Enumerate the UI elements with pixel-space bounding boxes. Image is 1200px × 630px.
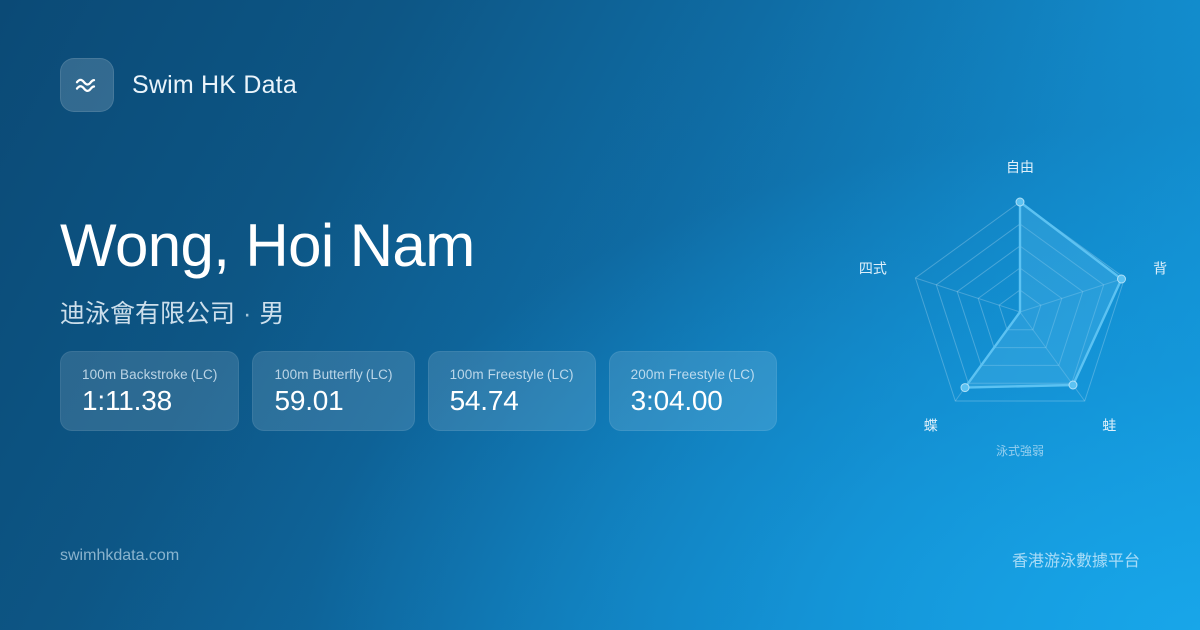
stat-course: (LC) [363,367,393,382]
radar-spoke [915,278,1020,312]
brand-name: Swim HK Data [132,71,297,100]
radar-point [1069,381,1077,389]
athlete-meta: 迪泳會有限公司·男 [60,294,840,330]
stat-label: 100m Backstroke(LC) [82,367,217,382]
stat-label: 200m Freestyle(LC) [631,367,755,382]
stat-course: (LC) [188,367,218,382]
footer-site-url: swimhkdata.com [60,547,179,565]
stat-course: (LC) [725,367,755,382]
athlete-gender: 男 [259,300,284,328]
stat-course: (LC) [544,367,574,382]
stat-event: 100m Backstroke [82,367,188,382]
radar-axis-label: 四式 [860,262,887,278]
radar-caption: 泳式強弱 [996,444,1044,458]
radar-axis-labels: 自由背蛙蝶四式 [860,160,1167,434]
meta-separator: · [235,300,259,328]
radar-point [1016,198,1024,206]
athlete-club: 迪泳會有限公司 [60,300,235,328]
stat-value: 59.01 [274,387,392,415]
footer-tagline: 香港游泳數據平台 [1012,547,1140,571]
stat-card: 200m Freestyle(LC) 3:04.00 [609,351,777,431]
wave-icon [60,58,114,112]
stat-label: 100m Freestyle(LC) [450,367,574,382]
page-title: Wong, Hoi Nam [60,216,840,276]
stroke-strength-radar-chart: 自由背蛙蝶四式 泳式強弱 [860,160,1180,480]
radar-axis-label: 背 [1153,262,1167,278]
stat-card: 100m Freestyle(LC) 54.74 [428,351,596,431]
stat-value: 1:11.38 [82,387,217,415]
radar-point [1118,275,1126,283]
stat-event: 200m Freestyle [631,367,725,382]
share-card: Swim HK Data Wong, Hoi Nam 迪泳會有限公司·男 100… [0,0,1200,630]
best-times-list: 100m Backstroke(LC) 1:11.38 100m Butterf… [60,351,777,431]
radar-axis-label: 蝶 [924,418,938,434]
stat-event: 100m Butterfly [274,367,362,382]
stat-card: 100m Butterfly(LC) 59.01 [252,351,414,431]
stat-label: 100m Butterfly(LC) [274,367,392,382]
stat-value: 54.74 [450,387,574,415]
brand-lockup: Swim HK Data [60,58,297,112]
stat-value: 3:04.00 [631,387,755,415]
radar-axis-label: 蛙 [1102,418,1116,434]
stat-event: 100m Freestyle [450,367,544,382]
radar-axis-label: 自由 [1006,160,1034,176]
stat-card: 100m Backstroke(LC) 1:11.38 [60,351,239,431]
athlete-header: Wong, Hoi Nam 迪泳會有限公司·男 [60,216,840,330]
radar-point [961,384,969,392]
